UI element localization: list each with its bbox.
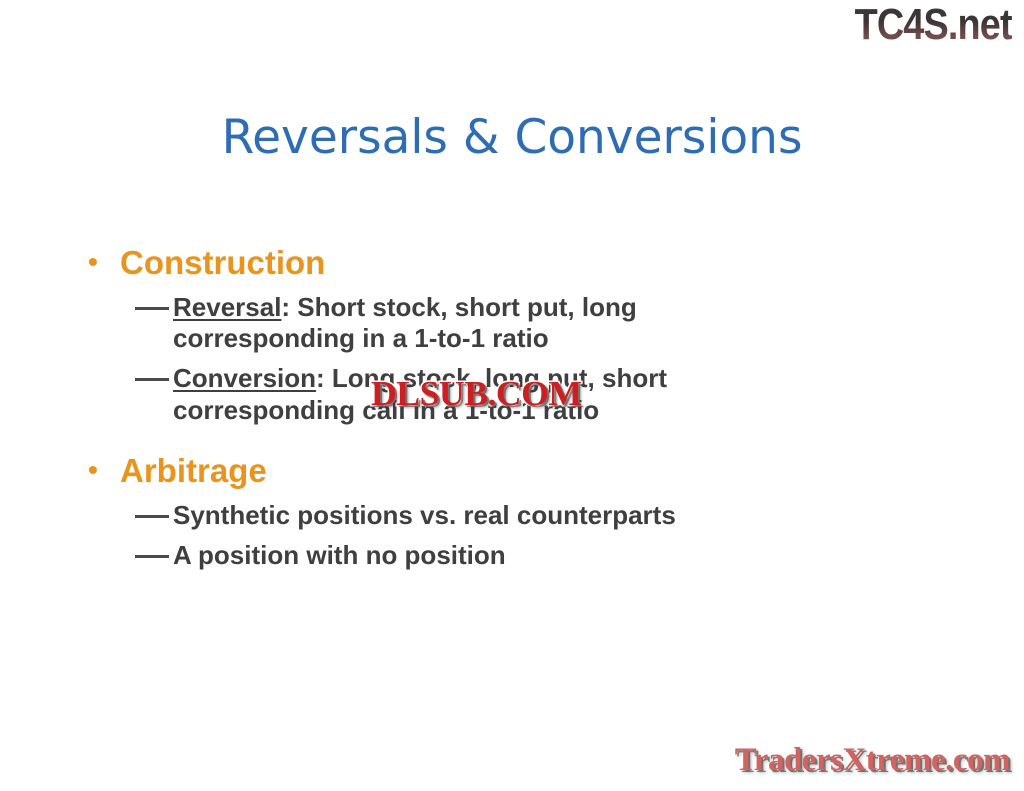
- sub-bullet-no-position-text: A position with no position: [173, 540, 873, 571]
- em-dash-icon: [135, 500, 173, 531]
- dlsub-watermark: DLSUB.COM: [371, 374, 582, 414]
- bullet-construction: • Construction: [88, 244, 918, 283]
- term-conversion: Conversion: [173, 363, 316, 393]
- section-heading-arbitrage: Arbitrage: [120, 452, 918, 491]
- sub-bullet-reversal-text: Reversal: Short stock, short put, long c…: [173, 292, 773, 354]
- term-reversal: Reversal: [173, 292, 281, 322]
- sub-bullet-synthetic: Synthetic positions vs. real counterpart…: [135, 500, 918, 531]
- em-dash-icon: [135, 292, 173, 323]
- em-dash-icon: [135, 363, 173, 394]
- tc4s-logo: TC4S.net: [855, 2, 1012, 48]
- sub-bullet-no-position: A position with no position: [135, 540, 918, 571]
- bullet-dot-icon: •: [88, 244, 120, 279]
- bullet-dot-icon: •: [88, 452, 120, 487]
- bullet-arbitrage: • Arbitrage: [88, 452, 918, 491]
- em-dash-icon: [135, 540, 173, 571]
- sub-bullet-synthetic-text: Synthetic positions vs. real counterpart…: [173, 500, 873, 531]
- presentation-slide: TC4S.net Reversals & Conversions • Const…: [0, 0, 1024, 791]
- page-title: Reversals & Conversions: [0, 112, 1024, 164]
- section-spacer: [88, 426, 918, 452]
- section-heading-construction: Construction: [120, 244, 918, 283]
- tradersxtreme-logo: TradersXtreme.com: [735, 742, 1010, 779]
- sub-bullet-reversal: Reversal: Short stock, short put, long c…: [135, 292, 918, 354]
